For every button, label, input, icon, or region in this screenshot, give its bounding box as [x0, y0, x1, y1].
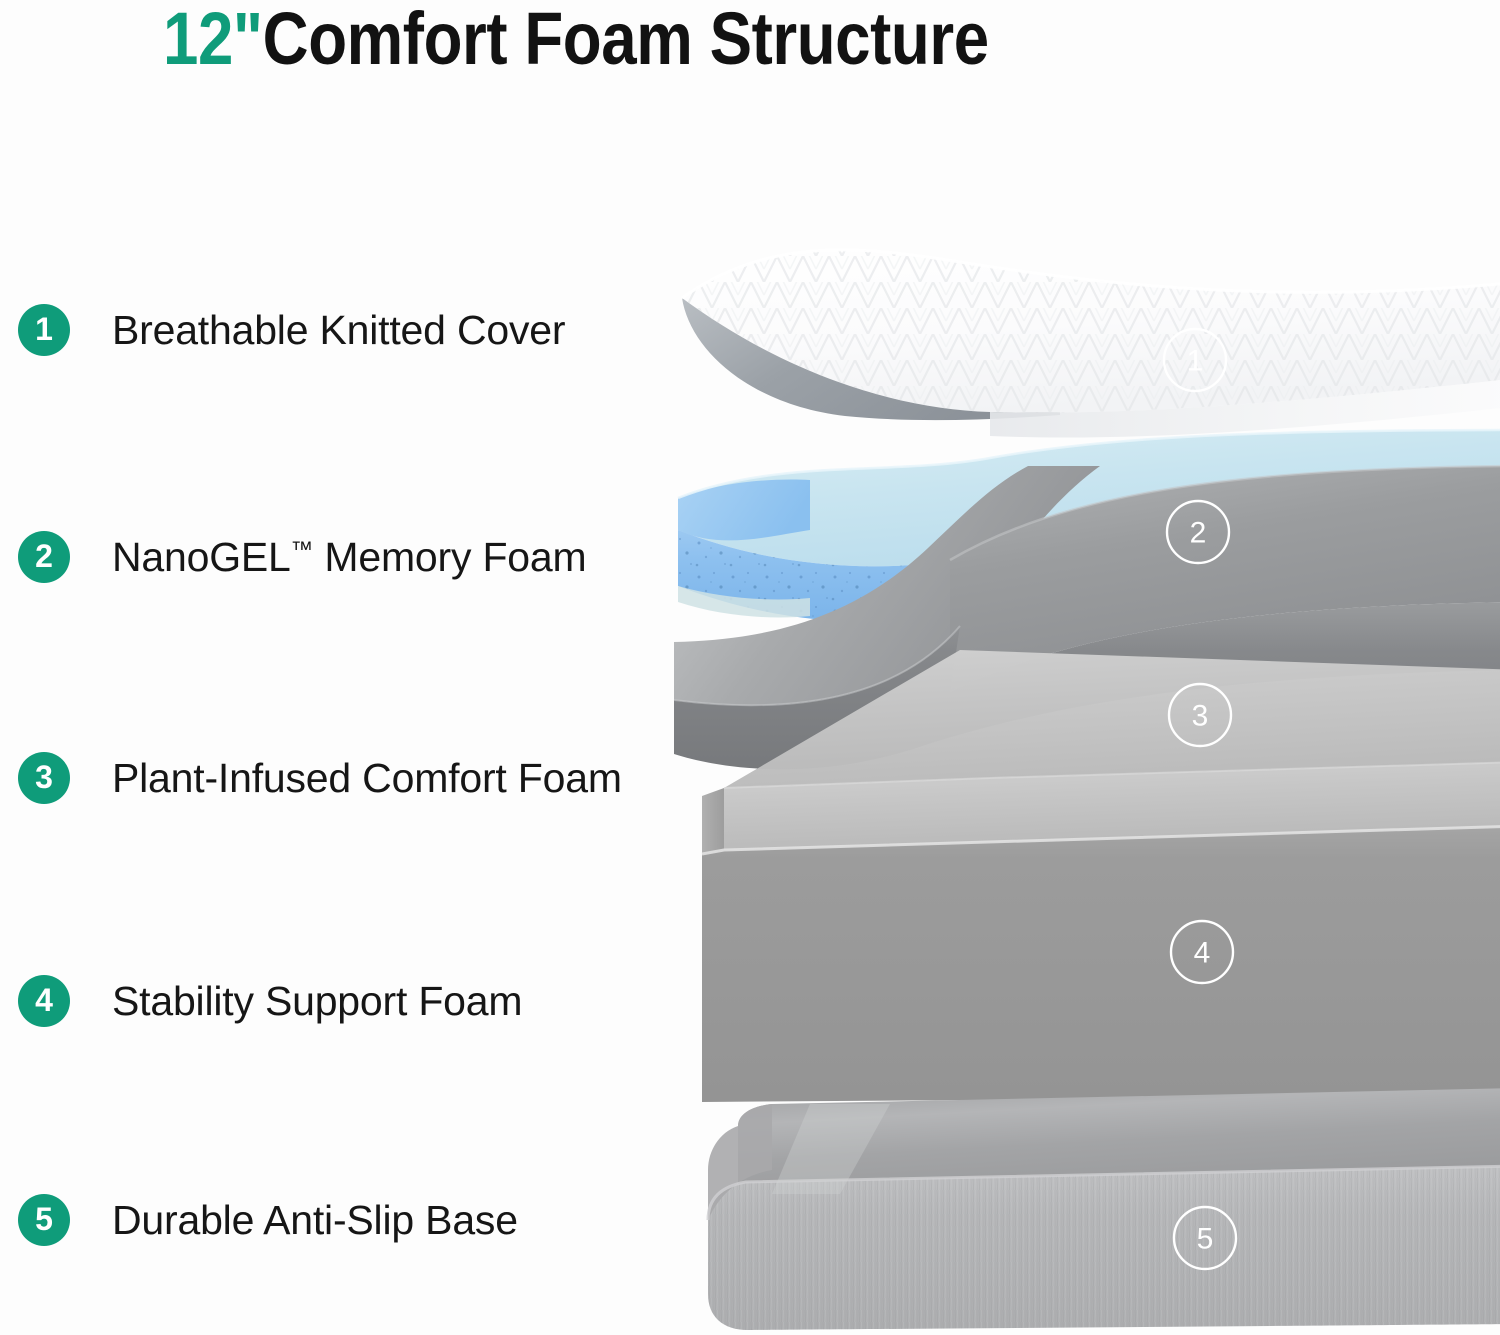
- legend-label-3: Plant-Infused Comfort Foam: [112, 755, 622, 802]
- list-item: 4 Stability Support Foam: [18, 973, 522, 1029]
- overlay-badge-1-text: 1: [1187, 345, 1204, 378]
- list-item: 1 Breathable Knitted Cover: [18, 302, 565, 358]
- list-item: 5 Durable Anti-Slip Base: [18, 1192, 518, 1248]
- layer-legend-list: 1 Breathable Knitted Cover 2 NanoGEL™ Me…: [0, 0, 700, 1335]
- trademark-icon: ™: [291, 537, 314, 562]
- legend-badge-1: 1: [18, 304, 70, 356]
- product-layer-infographic: 12"Comfort Foam Structure 1 Breathable K…: [0, 0, 1500, 1335]
- list-item: 2 NanoGEL™ Memory Foam: [18, 529, 586, 585]
- overlay-badge-3-text: 3: [1192, 700, 1209, 733]
- legend-badge-5: 5: [18, 1194, 70, 1246]
- gel-left-tip: [678, 480, 810, 541]
- mattress-layer-illustration: 1 2 3 4 5: [660, 230, 1500, 1335]
- overlay-badge-5-text: 5: [1197, 1223, 1214, 1256]
- list-item: 3 Plant-Infused Comfort Foam: [18, 750, 622, 806]
- foam4-front-face: [702, 826, 1500, 1102]
- legend-badge-3: 3: [18, 752, 70, 804]
- layer-1-breathable-knitted-cover: [682, 250, 1500, 438]
- foam4-left-facet: [702, 788, 724, 854]
- legend-label-2: NanoGEL™ Memory Foam: [112, 534, 586, 581]
- legend-badge-2: 2: [18, 531, 70, 583]
- legend-badge-4: 4: [18, 975, 70, 1027]
- legend-label-2-brand: NanoGEL: [112, 534, 291, 580]
- layer-5-durable-anti-slip-base: [708, 1088, 1500, 1330]
- overlay-badge-4-text: 4: [1194, 937, 1211, 970]
- legend-label-2-suffix: Memory Foam: [313, 534, 586, 580]
- legend-label-1: Breathable Knitted Cover: [112, 307, 565, 354]
- legend-label-4: Stability Support Foam: [112, 978, 522, 1025]
- legend-label-5: Durable Anti-Slip Base: [112, 1197, 518, 1244]
- overlay-badge-2-text: 2: [1190, 517, 1207, 550]
